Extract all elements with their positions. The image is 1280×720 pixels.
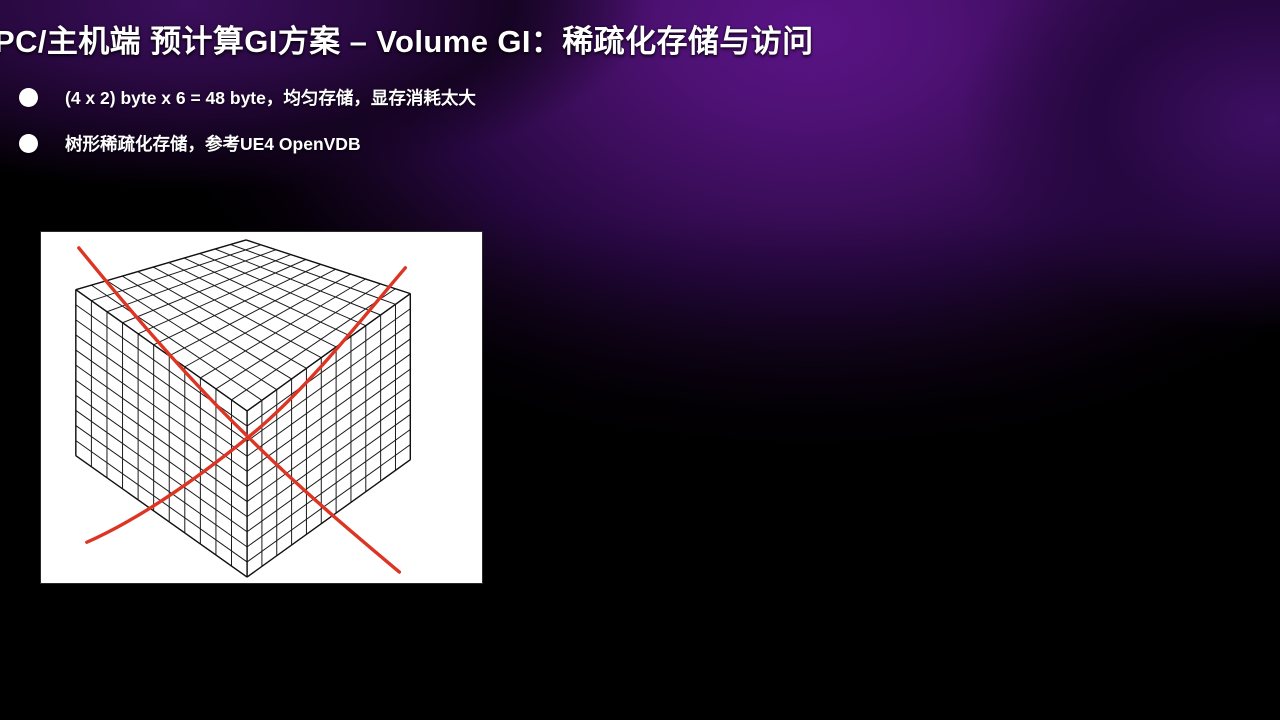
bullet-item-label: (4 x 2) byte x 6 = 48 byte，均匀存储，显存消耗太大 [65,85,476,110]
bullet-item-label: 树形稀疏化存储，参考UE4 OpenVDB [65,131,361,156]
bullet-item: (4 x 2) byte x 6 = 48 byte，均匀存储，显存消耗太大 [0,82,900,128]
slide-canvas: PC/主机端 预计算GI方案 – Volume GI：稀疏化存储与访问 (4 x… [0,0,1280,720]
bullet-dot-icon [19,88,38,107]
slide-title: PC/主机端 预计算GI方案 – Volume GI：稀疏化存储与访问 [0,16,1274,61]
bullet-list: (4 x 2) byte x 6 = 48 byte，均匀存储，显存消耗太大 树… [0,82,900,174]
bullet-item: 树形稀疏化存储，参考UE4 OpenVDB [0,128,900,174]
bullet-dot-icon [19,134,38,153]
voxel-cube-diagram [41,232,482,583]
figure-panel-voxel-cube [40,231,483,584]
